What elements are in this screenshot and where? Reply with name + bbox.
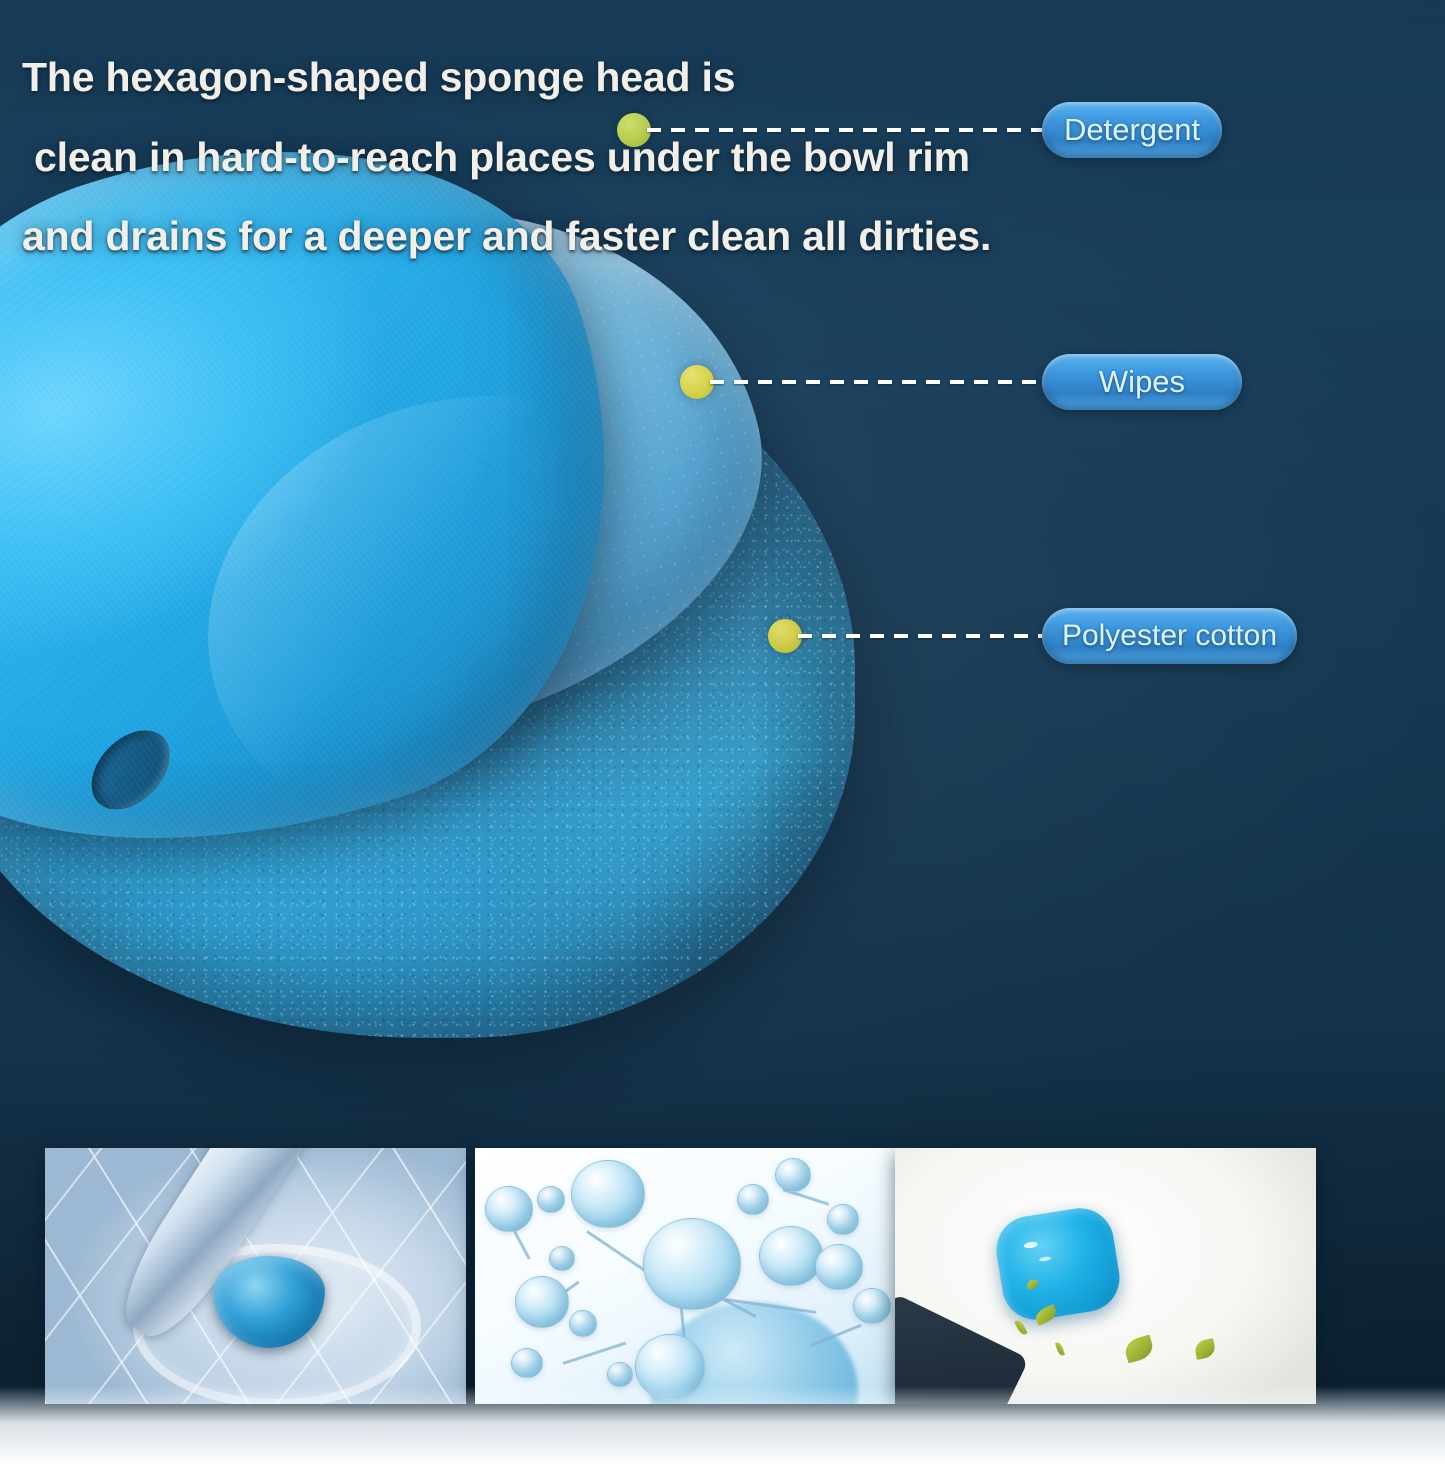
molecule-sphere <box>549 1246 575 1271</box>
thumbnail-molecules[interactable] <box>475 1148 896 1404</box>
molecule-sphere <box>775 1158 811 1192</box>
callout-dot-polyester-cotton <box>768 619 802 653</box>
headline-line-1: The hexagon-shaped sponge head is <box>22 38 1202 118</box>
molecule-sphere <box>571 1160 645 1228</box>
molecule-sphere <box>815 1244 863 1290</box>
callout-dashed-line-wipes <box>710 380 1042 384</box>
molecule-sphere <box>515 1276 569 1328</box>
molecule-sphere <box>511 1348 543 1378</box>
product-infographic-poster: The hexagon-shaped sponge head is clean … <box>0 0 1445 1466</box>
callout-dot-detergent <box>617 113 651 147</box>
molecule-sphere <box>737 1184 769 1215</box>
thumbnail-pipette-droplet[interactable] <box>45 1148 466 1404</box>
callout-pill-wipes[interactable]: Wipes <box>1042 354 1242 410</box>
molecule-sphere <box>537 1186 565 1213</box>
callout-dashed-line-detergent <box>647 128 1042 132</box>
bottom-white-fade <box>0 1386 1445 1466</box>
molecule-sphere <box>827 1204 859 1235</box>
callout-pill-detergent[interactable]: Detergent <box>1042 102 1222 158</box>
page-headline: The hexagon-shaped sponge head is clean … <box>22 38 1202 277</box>
thumbnail-toilet-gel[interactable] <box>895 1148 1316 1404</box>
thumbnail-row <box>0 1148 1445 1404</box>
molecule-sphere <box>485 1186 533 1232</box>
callout-dashed-line-polyester-cotton <box>798 634 1042 638</box>
callout-pill-polyester-cotton[interactable]: Polyester cotton <box>1042 608 1297 664</box>
callout-dot-wipes <box>680 365 714 399</box>
molecule-sphere <box>759 1226 823 1286</box>
molecule-sphere <box>569 1310 597 1337</box>
molecule-sphere <box>607 1362 633 1387</box>
molecule-sphere <box>643 1218 741 1310</box>
headline-line-3: and drains for a deeper and faster clean… <box>22 197 1202 277</box>
molecule-sphere <box>853 1288 891 1324</box>
